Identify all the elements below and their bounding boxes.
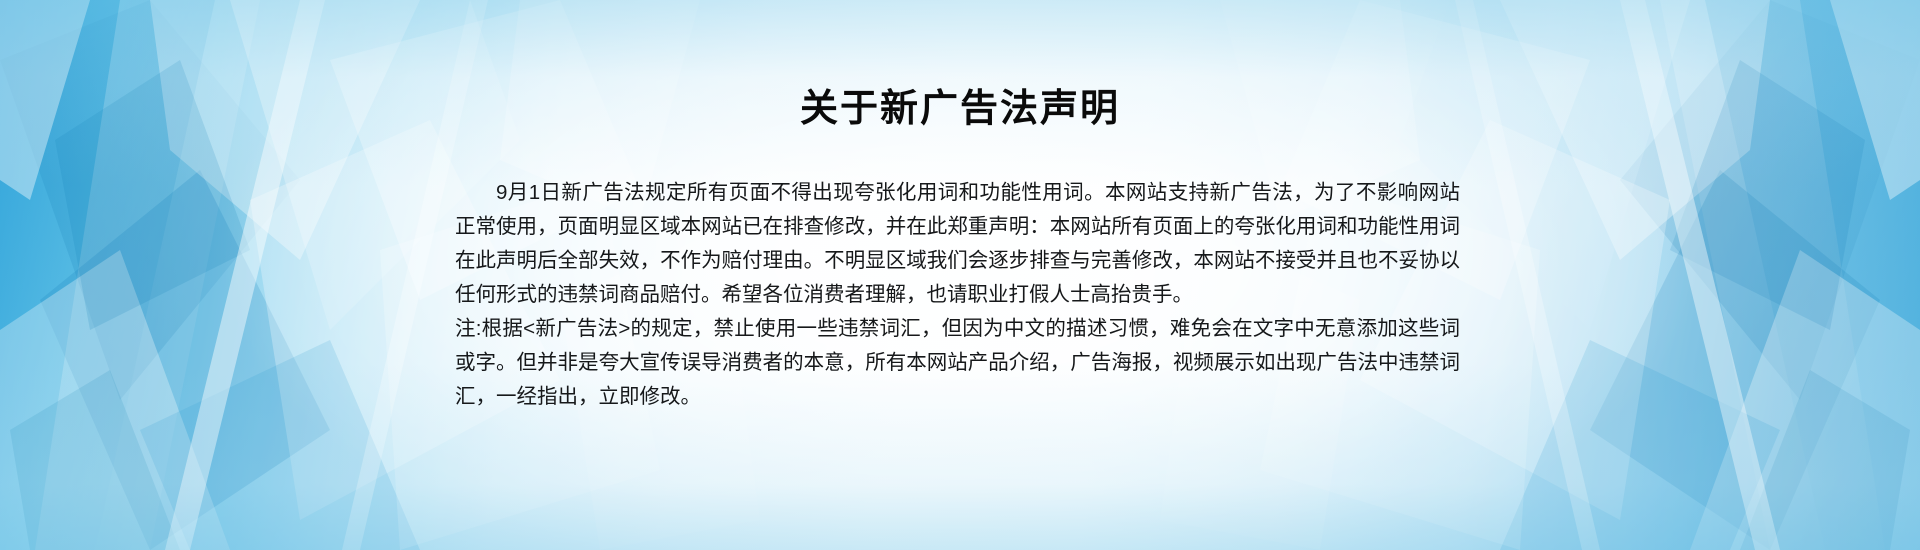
page-title: 关于新广告法声明 [0,86,1920,134]
statement-paragraph-1: 9月1日新广告法规定所有页面不得出现夸张化用词和功能性用词。本网站支持新广告法，… [455,176,1460,312]
banner-content: 关于新广告法声明 9月1日新广告法规定所有页面不得出现夸张化用词和功能性用词。本… [0,0,1920,550]
statement-body: 9月1日新广告法规定所有页面不得出现夸张化用词和功能性用词。本网站支持新广告法，… [455,176,1460,414]
advertising-law-banner: 关于新广告法声明 9月1日新广告法规定所有页面不得出现夸张化用词和功能性用词。本… [0,0,1920,550]
statement-paragraph-2: 注:根据<新广告法>的规定，禁止使用一些违禁词汇，但因为中文的描述习惯，难免会在… [455,312,1460,414]
